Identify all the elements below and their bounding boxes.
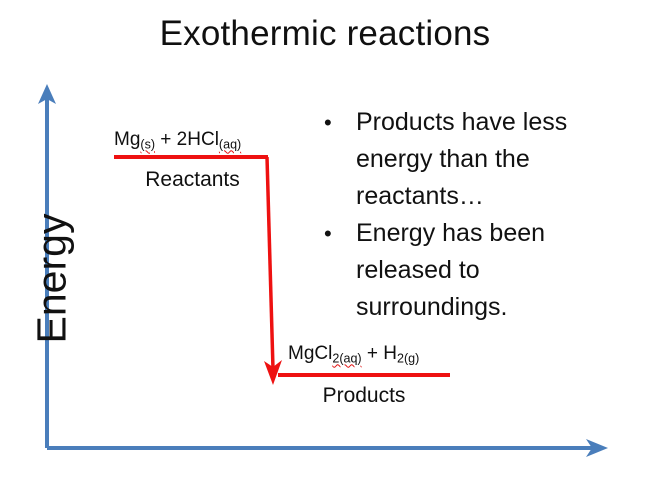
products-formula: MgCl2(aq) + H2(g): [288, 343, 419, 366]
bullet-marker-icon: •: [318, 104, 356, 141]
page-title: Exothermic reactions: [0, 14, 650, 54]
products-formula-text2: + H: [362, 343, 397, 364]
x-axis-arrowhead: [586, 439, 608, 457]
bullet-text: Products have less energy than the react…: [356, 104, 618, 215]
products-sub-2g: 2(g): [397, 352, 419, 366]
bullet-list: • Products have less energy than the rea…: [318, 104, 618, 326]
bullet-text: Energy has been released to surroundings…: [356, 215, 618, 326]
y-axis-label: Energy: [29, 179, 76, 379]
products-formula-text: MgCl: [288, 343, 332, 364]
bullet-marker-icon: •: [318, 215, 356, 252]
list-item: • Products have less energy than the rea…: [318, 104, 618, 215]
list-item: • Energy has been released to surroundin…: [318, 215, 618, 326]
y-axis-arrowhead: [38, 84, 56, 104]
reactants-energy-line: [114, 155, 268, 159]
reactants-formula-text2: + 2HCl: [155, 129, 219, 150]
products-sub-2aq: 2(aq): [332, 352, 361, 366]
reactants-label: Reactants: [115, 168, 270, 192]
slide-canvas: Exothermic reactions Energy Mg(s) + 2HCl…: [0, 0, 650, 488]
products-energy-line: [278, 373, 450, 377]
reactants-formula-text: Mg: [114, 129, 140, 150]
reactants-formula: Mg(s) + 2HCl(aq): [114, 129, 241, 152]
reactants-sub-s: (s): [140, 138, 155, 152]
products-label: Products: [278, 384, 450, 408]
reactants-sub-aq: (aq): [219, 138, 241, 152]
